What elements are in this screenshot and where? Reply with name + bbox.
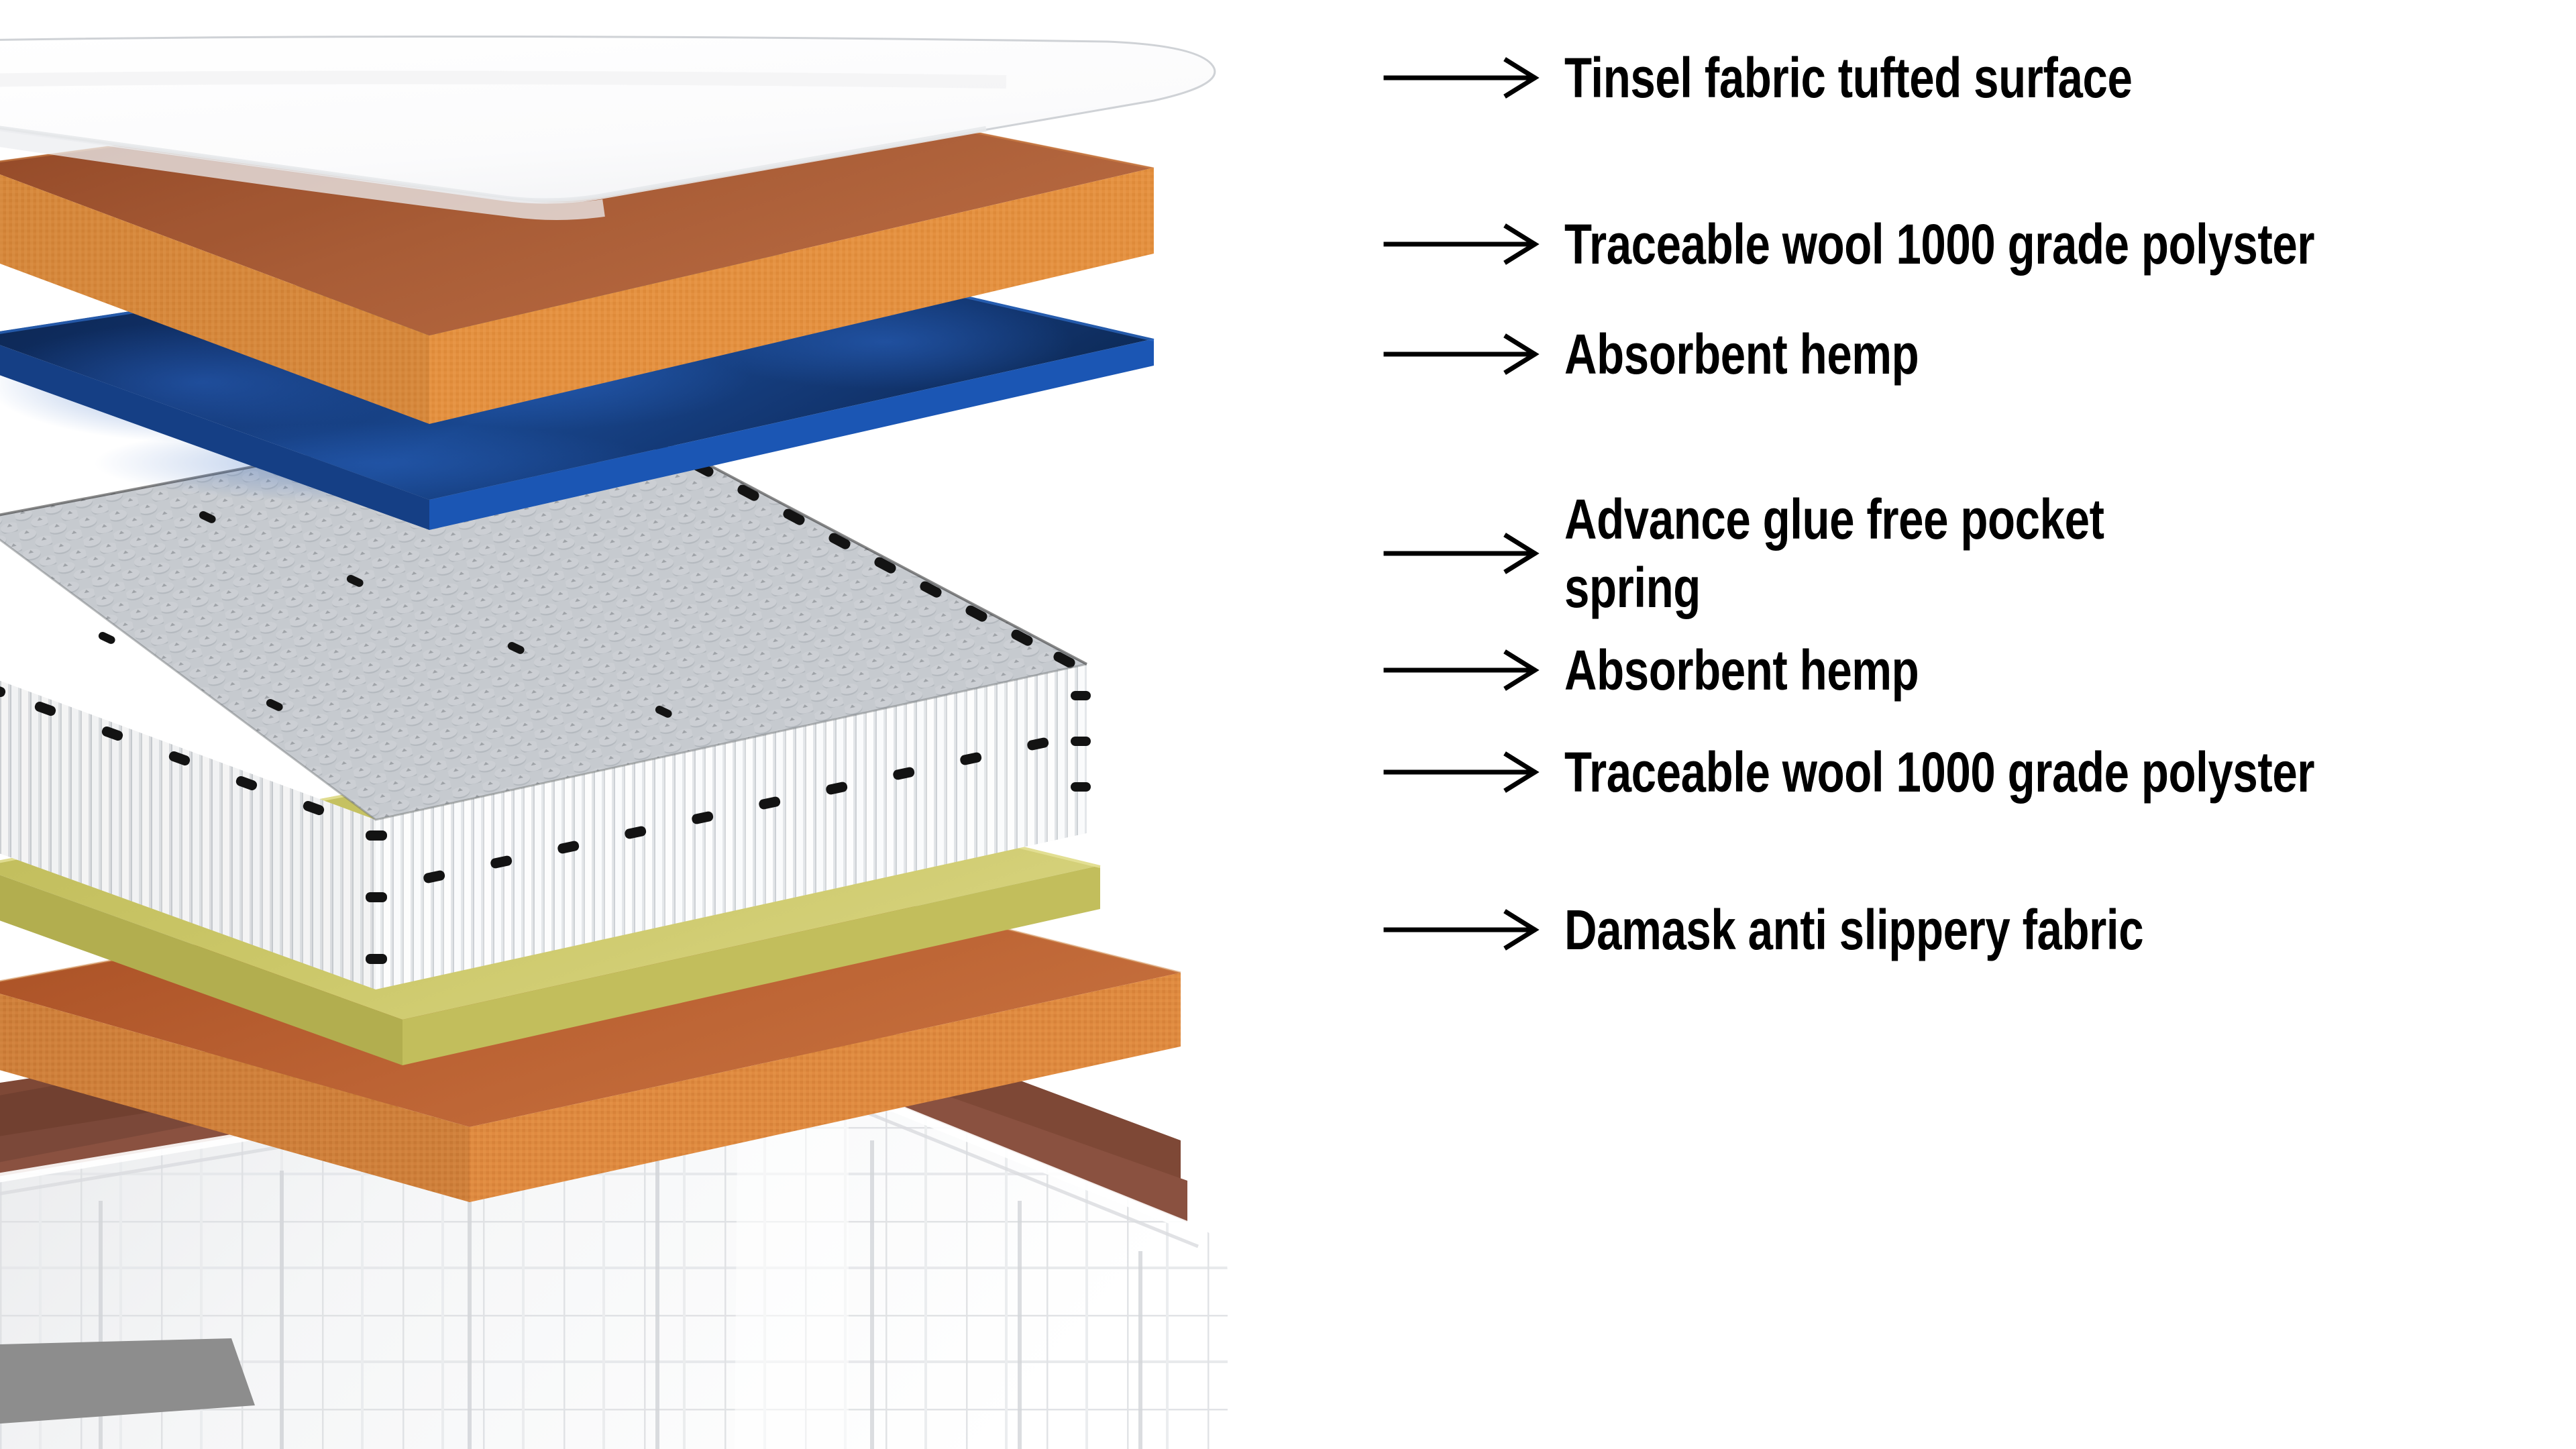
callout-list: Tinsel fabric tufted surface Traceable w… — [1382, 0, 2576, 1449]
right-arrow-icon — [1382, 54, 1550, 101]
right-arrow-icon — [1382, 906, 1550, 953]
diagram-stage: Tinsel fabric tufted surface Traceable w… — [0, 0, 2576, 1449]
callout-label: Absorbent hemp — [1564, 327, 1919, 382]
callout-label: Damask anti slippery fabric — [1564, 902, 2143, 957]
callout-pocket-spring: Advance glue free pocket spring — [1382, 485, 2239, 623]
right-arrow-icon — [1382, 530, 1550, 577]
callout-hemp-bottom: Absorbent hemp — [1382, 643, 2007, 698]
right-arrow-icon — [1382, 749, 1550, 796]
right-arrow-icon — [1382, 221, 1550, 268]
mattress-exploded-illustration — [0, 0, 1409, 1449]
callout-wool-top: Traceable wool 1000 grade polyster — [1382, 217, 2502, 272]
callout-label: Traceable wool 1000 grade polyster — [1564, 217, 2314, 272]
callout-label: Tinsel fabric tufted surface — [1564, 50, 2132, 105]
right-arrow-icon — [1382, 331, 1550, 378]
callout-label: Absorbent hemp — [1564, 643, 1919, 698]
callout-tinsel: Tinsel fabric tufted surface — [1382, 50, 2274, 105]
callout-wool-bottom: Traceable wool 1000 grade polyster — [1382, 745, 2502, 800]
callout-label: Traceable wool 1000 grade polyster — [1564, 745, 2314, 800]
callout-damask: Damask anti slippery fabric — [1382, 902, 2288, 957]
callout-label: Advance glue free pocket spring — [1564, 485, 2104, 623]
right-arrow-icon — [1382, 647, 1550, 694]
callout-hemp-top: Absorbent hemp — [1382, 327, 2007, 382]
